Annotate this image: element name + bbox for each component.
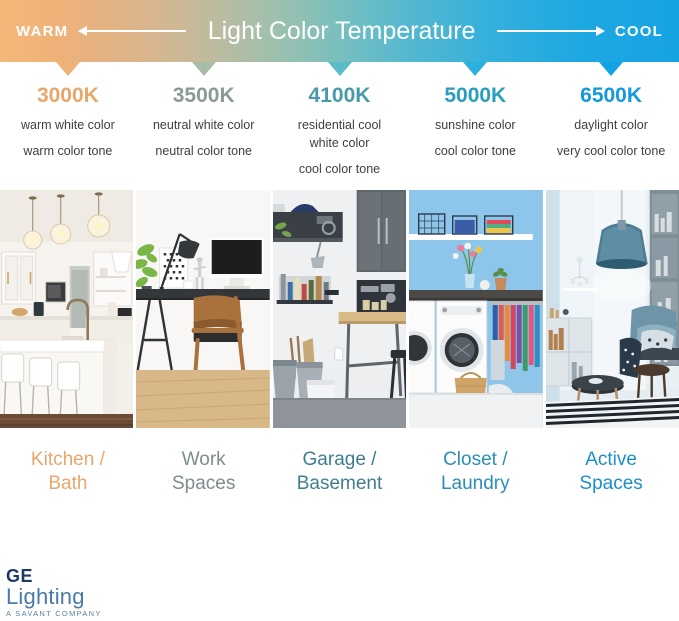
room-label-line2: Laundry	[411, 472, 539, 496]
temperature-description-line1: daylight color	[574, 118, 648, 132]
room-label-line1: Closet /	[411, 448, 539, 472]
room-label-line1: Garage /	[276, 448, 404, 472]
temperature-tone-4100k: cool color tone	[276, 161, 404, 179]
temperature-description-3000k: warm white color	[4, 117, 132, 135]
header-gradient-bar: WARM Light Color Temperature COOL	[0, 0, 679, 62]
photo-strip	[0, 190, 679, 428]
kelvin-value-6500k: 6500K	[547, 84, 675, 108]
room-label-line2: Spaces	[140, 472, 268, 496]
room-label-line2: Bath	[4, 472, 132, 496]
temperature-tone-3500k: neutral color tone	[140, 143, 268, 161]
warm-arrow-icon	[68, 25, 195, 37]
temperature-description-line1: sunshine color	[435, 118, 516, 132]
cool-arrow-icon	[487, 25, 614, 37]
photo-active-spaces	[546, 190, 679, 428]
photo-kitchen-bath	[0, 190, 133, 428]
temperature-description-line1: residential cool	[298, 118, 381, 132]
temperature-row: 3000K warm white color warm color tone 3…	[0, 62, 679, 178]
temperature-column-4100k: 4100K residential cool white color cool …	[272, 84, 408, 178]
room-label-line1: Active	[547, 448, 675, 472]
temperature-description-4100k: residential cool white color	[276, 117, 404, 153]
room-label-line1: Work	[140, 448, 268, 472]
photo-closet-laundry	[409, 190, 542, 428]
temperature-tone-6500k: very cool color tone	[547, 143, 675, 161]
page-title: Light Color Temperature	[196, 17, 488, 46]
photo-garage-basement	[273, 190, 406, 428]
photo-work-spaces	[136, 190, 269, 428]
logo-product-text: Lighting	[6, 586, 102, 608]
warm-label: WARM	[16, 23, 68, 40]
room-label-garage-basement: Garage / Basement	[272, 448, 408, 496]
room-label-row: Kitchen / Bath Work Spaces Garage / Base…	[0, 448, 679, 496]
ge-lighting-logo: GE Lighting A SAVANT COMPANY	[6, 567, 102, 618]
cool-label: COOL	[615, 23, 663, 40]
kelvin-value-5000k: 5000K	[411, 84, 539, 108]
room-label-kitchen-bath: Kitchen / Bath	[0, 448, 136, 496]
room-label-closet-laundry: Closet / Laundry	[407, 448, 543, 496]
temperature-tone-5000k: cool color tone	[411, 143, 539, 161]
temperature-description-5000k: sunshine color	[411, 117, 539, 135]
kelvin-value-3500k: 3500K	[140, 84, 268, 108]
temperature-column-5000k: 5000K sunshine color cool color tone	[407, 84, 543, 178]
temperature-column-3000k: 3000K warm white color warm color tone	[0, 84, 136, 178]
temperature-description-line2: white color	[276, 135, 404, 153]
temperature-description-line1: neutral white color	[153, 118, 254, 132]
room-label-work-spaces: Work Spaces	[136, 448, 272, 496]
temperature-description-3500k: neutral white color	[140, 117, 268, 135]
kelvin-value-4100k: 4100K	[276, 84, 404, 108]
room-label-line1: Kitchen /	[4, 448, 132, 472]
temperature-tone-3000k: warm color tone	[4, 143, 132, 161]
room-label-active-spaces: Active Spaces	[543, 448, 679, 496]
temperature-column-3500k: 3500K neutral white color neutral color …	[136, 84, 272, 178]
temperature-description-line1: warm white color	[21, 118, 115, 132]
logo-tagline-text: A SAVANT COMPANY	[6, 610, 102, 618]
room-label-line2: Basement	[276, 472, 404, 496]
room-label-line2: Spaces	[547, 472, 675, 496]
temperature-description-6500k: daylight color	[547, 117, 675, 135]
logo-brand-text: GE	[6, 567, 102, 585]
temperature-column-6500k: 6500K daylight color very cool color ton…	[543, 84, 679, 178]
kelvin-value-3000k: 3000K	[4, 84, 132, 108]
